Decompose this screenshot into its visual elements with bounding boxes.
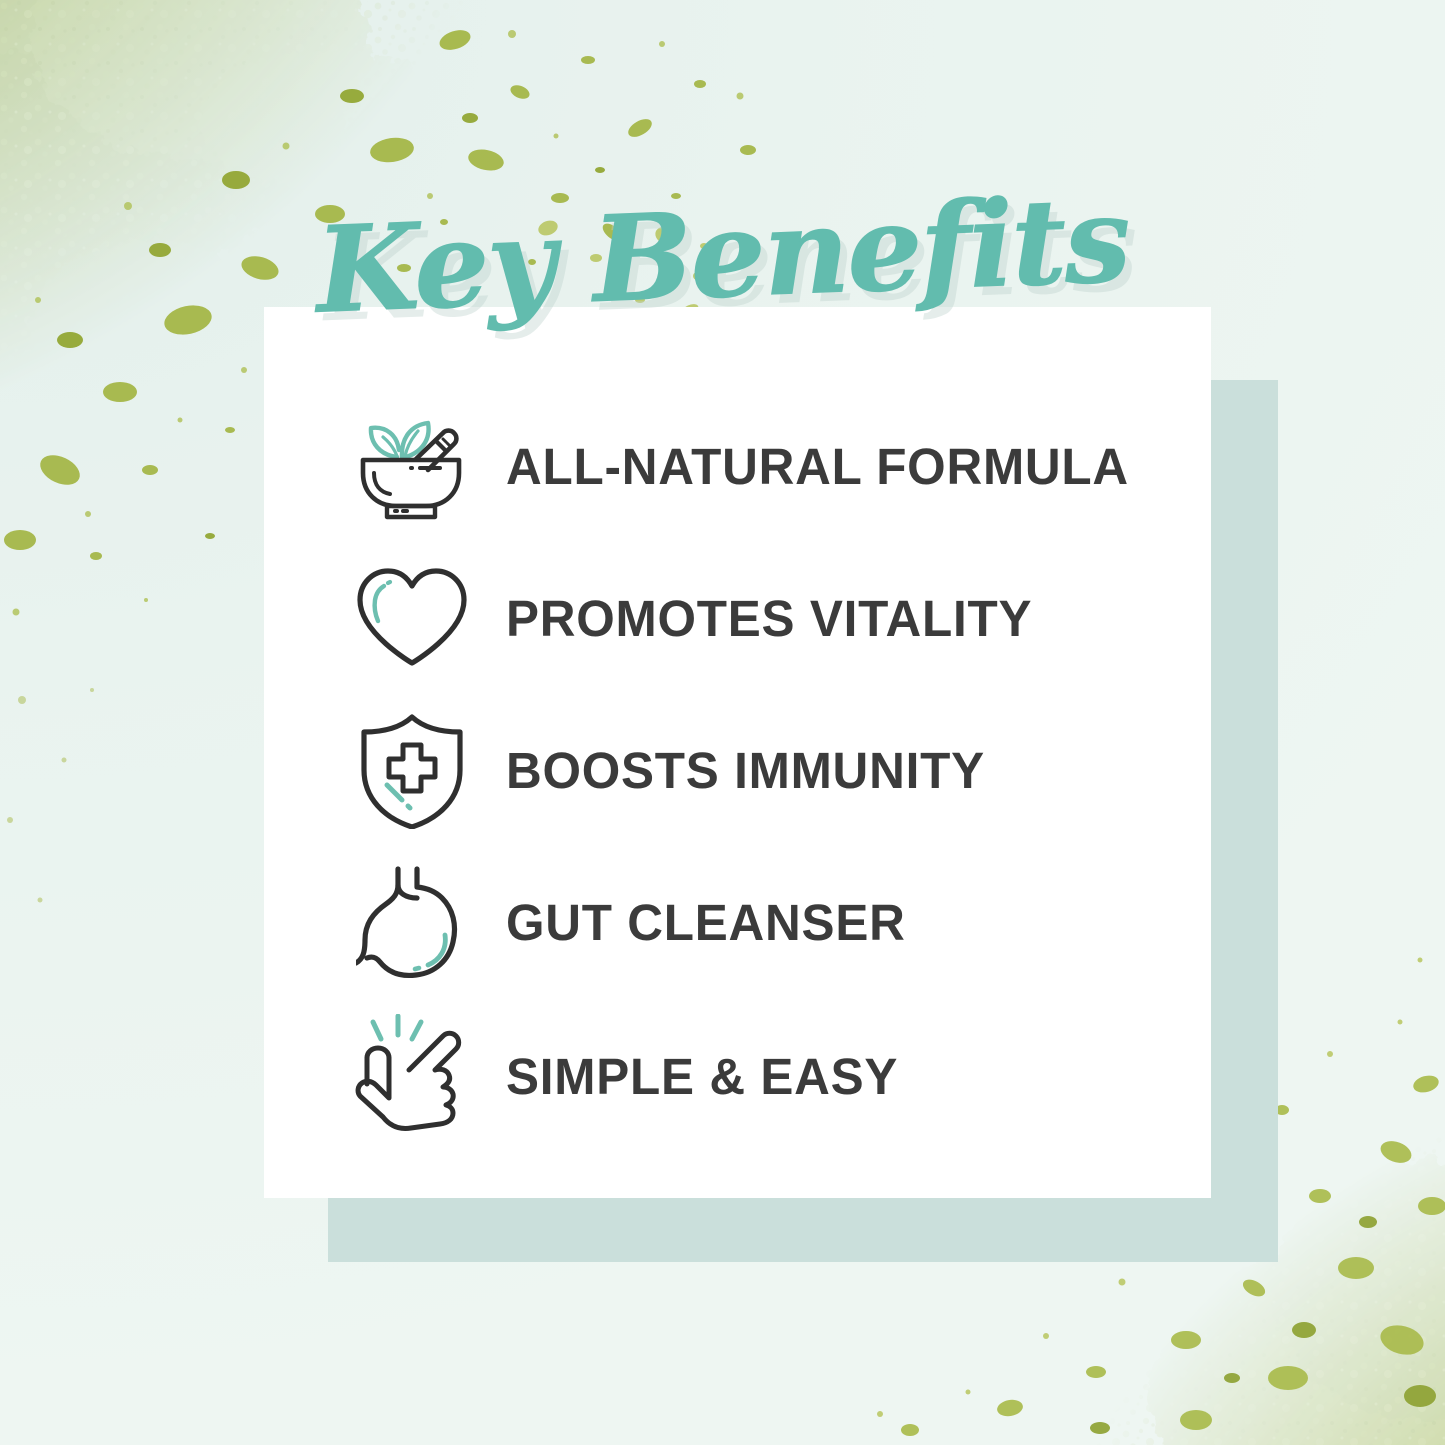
mortar-pestle-icon <box>332 401 492 531</box>
benefit-item-all-natural-formula: ALL-NATURAL FORMULA <box>264 396 1211 536</box>
shield-cross-icon <box>332 705 492 835</box>
heart-icon <box>332 553 492 683</box>
key-benefits-poster: Key Benefits <box>0 0 1445 1445</box>
benefit-item-boosts-immunity: BOOSTS IMMUNITY <box>264 700 1211 840</box>
benefit-item-gut-cleanser: GUT CLEANSER <box>264 852 1211 992</box>
benefit-label: PROMOTES VITALITY <box>506 589 1032 648</box>
benefit-label: GUT CLEANSER <box>506 893 906 952</box>
benefit-label: SIMPLE & EASY <box>506 1047 898 1106</box>
stomach-icon <box>332 857 492 987</box>
benefit-item-simple-easy: SIMPLE & EASY <box>264 1006 1211 1146</box>
benefit-label: BOOSTS IMMUNITY <box>506 741 985 800</box>
benefit-label: ALL-NATURAL FORMULA <box>506 437 1129 496</box>
tap-hand-icon <box>332 1011 492 1141</box>
benefit-item-promotes-vitality: PROMOTES VITALITY <box>264 548 1211 688</box>
benefits-list: ALL-NATURAL FORMULA PROMOTES VITALITY <box>264 386 1211 1146</box>
